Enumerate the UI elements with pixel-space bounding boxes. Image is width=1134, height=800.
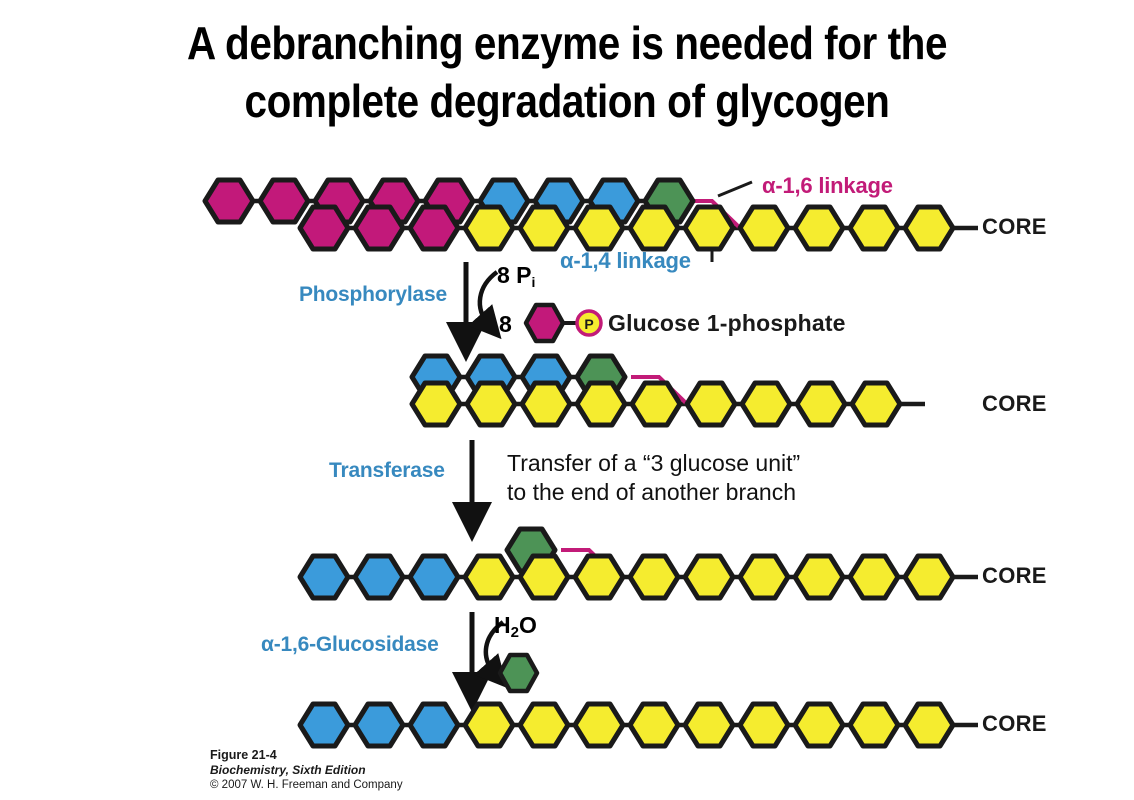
- glucose-hexagon-yellow: [905, 556, 953, 598]
- core-label-chain-1: CORE: [982, 214, 1047, 240]
- alpha-1-4-linkage-label: α-1,4 linkage: [560, 248, 691, 274]
- curved-substrate-arrow: [480, 272, 497, 325]
- product-label-glucose-1-phosphate: Glucose 1-phosphate: [608, 310, 846, 337]
- glucose-hexagon-yellow: [575, 207, 623, 249]
- glucose-hexagon-yellow: [412, 383, 460, 425]
- core-label-chain-3: CORE: [982, 563, 1047, 589]
- glucose-hexagon-yellow: [850, 704, 898, 746]
- core-label-chain-4: CORE: [982, 711, 1047, 737]
- glucose-hexagon-yellow: [520, 704, 568, 746]
- glucose-hexagon-yellow: [740, 207, 788, 249]
- glucose-hexagon-blue: [410, 704, 458, 746]
- glucose-hexagon-yellow: [630, 704, 678, 746]
- glucose-hexagon-magenta: [260, 180, 308, 222]
- chain-3: [300, 529, 978, 598]
- glucose-hexagon-yellow: [465, 704, 513, 746]
- glucose-hexagon-yellow: [632, 383, 680, 425]
- water-h: H: [494, 612, 511, 638]
- glucose-hexagon-blue: [300, 556, 348, 598]
- enzyme-label-phosphorylase: Phosphorylase: [299, 283, 447, 307]
- product-count-8: 8: [499, 311, 512, 338]
- substrate-8-pi-text: 8 P: [497, 262, 532, 288]
- glucose-hexagon-yellow: [797, 383, 845, 425]
- glucose-hexagon-yellow: [630, 556, 678, 598]
- glucose-hexagon-magenta: [526, 305, 563, 341]
- glucose-hexagon-yellow: [742, 383, 790, 425]
- enzyme-label-transferase: Transferase: [329, 459, 445, 483]
- glucose-hexagon-yellow: [465, 556, 513, 598]
- glucose-hexagon-magenta: [410, 207, 458, 249]
- glucose-hexagon-yellow: [795, 704, 843, 746]
- water-o: O: [519, 612, 537, 638]
- glucose-hexagon-yellow: [685, 207, 733, 249]
- glucose-hexagon-yellow: [740, 704, 788, 746]
- glucose-hexagon-yellow: [850, 556, 898, 598]
- water-subscript: 2: [511, 624, 519, 641]
- glucose-hexagon-yellow: [795, 207, 843, 249]
- glucose-hexagon-yellow: [740, 556, 788, 598]
- phosphorylase-reaction-arrow: [466, 262, 497, 338]
- alpha-1-6-linkage-label: α-1,6 linkage: [762, 173, 893, 199]
- glucose-hexagon-yellow: [852, 383, 900, 425]
- glucose-hexagon-yellow: [465, 207, 513, 249]
- glucose-hexagon-blue: [300, 704, 348, 746]
- glucose-hexagon-blue: [410, 556, 458, 598]
- glucose-1-phosphate-glyph: P: [526, 305, 601, 341]
- glucose-hexagon-yellow: [575, 704, 623, 746]
- substrate-water: H2O: [494, 612, 537, 639]
- substrate-8-pi-subscript: i: [532, 274, 536, 290]
- glucose-hexagon-magenta: [205, 180, 253, 222]
- transferase-description: Transfer of a “3 glucose unit” to the en…: [507, 449, 800, 507]
- glucose-hexagon-yellow: [630, 207, 678, 249]
- glucose-hexagon-yellow: [467, 383, 515, 425]
- enzyme-label-glucosidase: α-1,6-Glucosidase: [261, 633, 439, 657]
- glycogen-degradation-diagram: P: [0, 0, 1134, 800]
- glucose-hexagon-blue: [355, 556, 403, 598]
- glucose-hexagon-magenta: [300, 207, 348, 249]
- figure-caption: Figure 21-4 Biochemistry, Sixth Edition …: [210, 748, 403, 793]
- caption-figure-number: Figure 21-4: [210, 748, 403, 763]
- glucose-hexagon-yellow: [575, 556, 623, 598]
- glucose-hexagon-yellow: [905, 704, 953, 746]
- glucose-hexagon-blue: [355, 704, 403, 746]
- core-label-chain-2: CORE: [982, 391, 1047, 417]
- glucose-hexagon-magenta: [355, 207, 403, 249]
- glucose-hexagon-yellow: [795, 556, 843, 598]
- caption-copyright: © 2007 W. H. Freeman and Company: [210, 778, 403, 793]
- alpha-1-6-leader: [718, 182, 752, 196]
- glucose-hexagon-yellow: [577, 383, 625, 425]
- chain-2: [412, 356, 925, 425]
- chain-2-main-row: [412, 383, 900, 425]
- glucose-hexagon-green-released: [500, 655, 537, 691]
- glucose-hexagon-yellow: [850, 207, 898, 249]
- phosphate-letter: P: [584, 316, 593, 332]
- glucose-hexagon-yellow: [905, 207, 953, 249]
- chain-4: [300, 704, 978, 746]
- caption-book-title: Biochemistry, Sixth Edition: [210, 763, 403, 778]
- glucose-hexagon-yellow: [685, 556, 733, 598]
- substrate-8-pi: 8 Pi: [497, 262, 535, 289]
- glucose-hexagon-yellow: [685, 704, 733, 746]
- glucose-hexagon-yellow: [687, 383, 735, 425]
- glucose-hexagon-yellow: [520, 556, 568, 598]
- glucose-hexagon-yellow: [522, 383, 570, 425]
- glucose-hexagon-yellow: [520, 207, 568, 249]
